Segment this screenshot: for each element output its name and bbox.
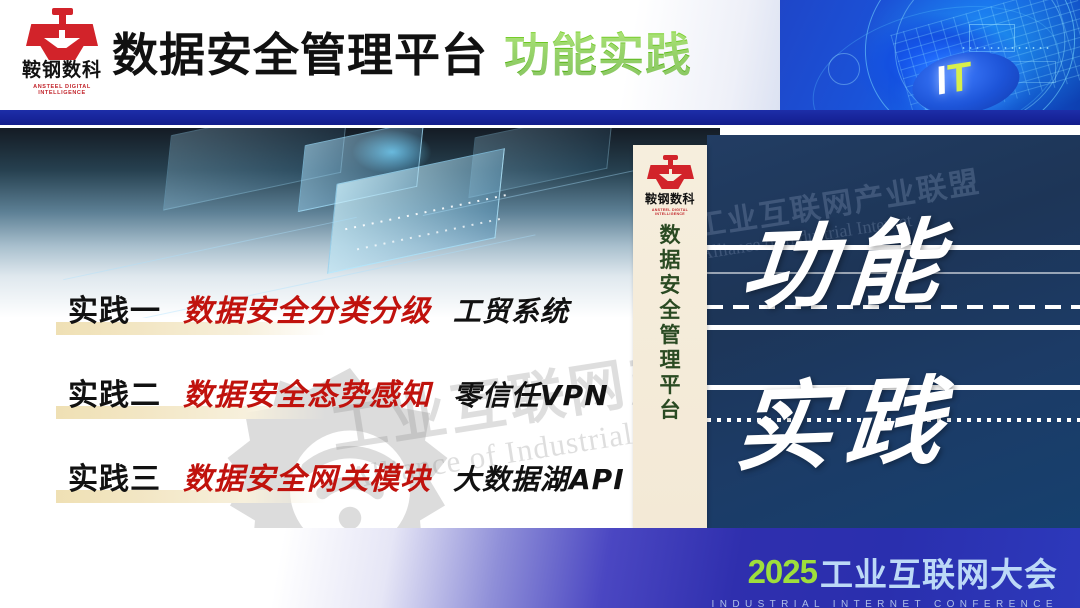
slide-footer: 2025 工业互联网大会 INDUSTRIAL INTERNET CONFERE…	[0, 528, 1080, 608]
conference-year: 2025	[748, 553, 817, 591]
page-title-main: 数据安全管理平台	[112, 19, 488, 85]
content-panel: 工业互联网产业联盟 Alliance of Industrial Interne…	[0, 128, 1080, 528]
practice-index: 实践一	[68, 286, 161, 330]
tech-hud-circle	[828, 53, 860, 85]
vertical-char: 数	[660, 225, 681, 246]
vertical-banner-logo-en: ANSTEEL DIGITAL INTELLIGENCE	[640, 208, 700, 216]
vertical-banner: 鞍钢数科 ANSTEEL DIGITAL INTELLIGENCE 数 据 安 …	[633, 145, 707, 528]
practice-system: 零信任VPN	[453, 374, 609, 414]
practice-row-text: 实践一 数据安全分类分级 工贸系统	[68, 286, 569, 330]
header-tech-graphic: IT	[780, 0, 1080, 110]
practice-index: 实践三	[68, 454, 161, 498]
conference-logo: 2025 工业互联网大会 INDUSTRIAL INTERNET CONFERE…	[712, 548, 1058, 608]
practice-row-text: 实践三 数据安全网关模块 大数据湖API	[68, 454, 625, 498]
header-divider-bar	[0, 110, 1080, 125]
practice-index: 实践二	[68, 370, 161, 414]
calligraphy-panel: 工业互联网产业联盟 Alliance of Industrial Interne…	[707, 135, 1080, 528]
vertical-banner-logo: 鞍钢数科 ANSTEEL DIGITAL INTELLIGENCE	[640, 155, 700, 216]
slide-header: IT 鞍钢数科 ANSTEEL DIGITAL INTELLIGENCE 数据安…	[0, 0, 1080, 110]
anvil-logo-icon	[14, 8, 110, 60]
vertical-char: 安	[660, 275, 681, 296]
anvil-logo-icon-small	[640, 155, 700, 189]
circuit-trace-1	[63, 217, 357, 280]
company-logo: 鞍钢数科 ANSTEEL DIGITAL INTELLIGENCE	[14, 8, 110, 103]
conference-name-cn: 工业互联网大会	[820, 548, 1058, 596]
page-title: 数据安全管理平台 功能实践	[112, 16, 692, 88]
practice-topic: 数据安全态势感知	[183, 370, 431, 414]
practice-list: 实践一 数据安全分类分级 工贸系统 实践二 数据安全态势感知 零信任VPN 实践…	[0, 278, 640, 528]
page-title-accent: 功能实践	[504, 19, 692, 85]
vertical-banner-text: 数 据 安 全 管 理 平 台	[660, 225, 681, 421]
it-mark-letter-t: T	[947, 54, 972, 102]
vertical-char: 台	[660, 400, 681, 421]
practice-row-text: 实践二 数据安全态势感知 零信任VPN	[68, 370, 609, 414]
vertical-char: 理	[660, 350, 681, 371]
conference-name-en: INDUSTRIAL INTERNET CONFERENCE	[712, 599, 1058, 608]
practice-row-1[interactable]: 实践一 数据安全分类分级 工贸系统	[0, 278, 640, 362]
vertical-char: 据	[660, 250, 681, 271]
logo-stem	[59, 10, 66, 30]
it-mark-icon: IT	[936, 54, 972, 105]
logo-name-en: ANSTEEL DIGITAL INTELLIGENCE	[14, 84, 110, 96]
practice-row-2[interactable]: 实践二 数据安全态势感知 零信任VPN	[0, 362, 640, 446]
slide-root: IT 鞍钢数科 ANSTEEL DIGITAL INTELLIGENCE 数据安…	[0, 0, 1080, 608]
practice-system: 大数据湖API	[453, 458, 625, 498]
vertical-banner-logo-cn: 鞍钢数科	[640, 190, 700, 207]
practice-system: 工贸系统	[453, 290, 569, 330]
vertical-char: 全	[660, 300, 681, 321]
conference-logo-row: 2025 工业互联网大会	[712, 548, 1058, 596]
vertical-char: 平	[660, 375, 681, 396]
vertical-char: 管	[660, 325, 681, 346]
logo-name-cn: 鞍钢数科	[14, 60, 110, 82]
practice-row-3[interactable]: 实践三 数据安全网关模块 大数据湖API	[0, 446, 640, 528]
calligraphy-line-1: 功能	[737, 187, 961, 327]
practice-topic: 数据安全分类分级	[183, 286, 431, 330]
tech-dot-row	[960, 46, 1050, 50]
practice-topic: 数据安全网关模块	[183, 454, 431, 498]
calligraphy-line-2: 实践	[730, 343, 963, 490]
